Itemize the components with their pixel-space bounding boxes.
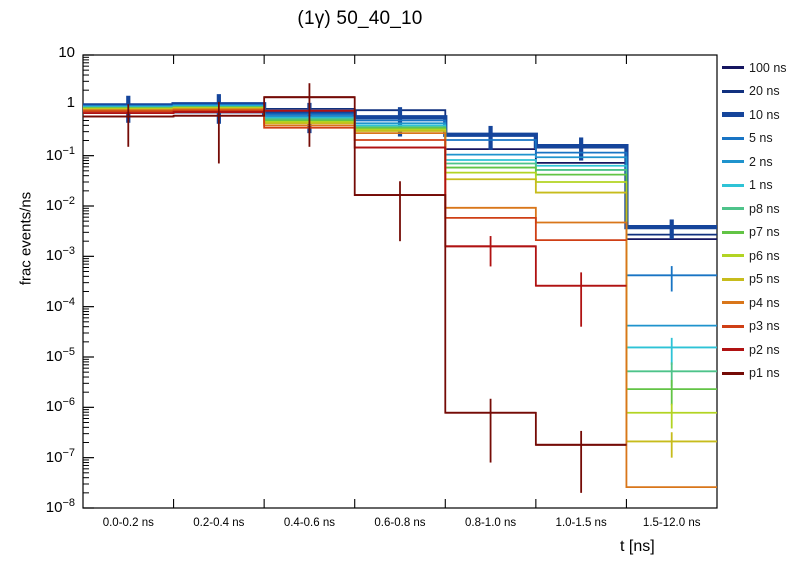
legend-label: p1 ns: [749, 366, 780, 380]
legend-swatch: [722, 160, 744, 163]
x-tick-label: 0.2-0.4 ns: [174, 517, 265, 529]
legend-item[interactable]: p7 ns: [722, 221, 796, 245]
series-p5-ns: [83, 109, 717, 458]
legend-item[interactable]: p2 ns: [722, 338, 796, 362]
legend-swatch: [722, 301, 744, 304]
legend-label: 100 ns: [749, 61, 787, 75]
legend-item[interactable]: p8 ns: [722, 197, 796, 221]
legend-item[interactable]: 100 ns: [722, 56, 796, 80]
legend-swatch: [722, 112, 744, 117]
legend-item[interactable]: p1 ns: [722, 362, 796, 386]
y-tick-label: 1: [0, 94, 75, 111]
legend-item[interactable]: p6 ns: [722, 244, 796, 268]
legend-swatch: [722, 278, 744, 281]
legend-label: 2 ns: [749, 155, 773, 169]
legend-swatch: [722, 325, 744, 328]
legend-swatch: [722, 254, 744, 257]
legend-item[interactable]: 20 ns: [722, 80, 796, 104]
series-step-line: [83, 109, 717, 442]
legend-item[interactable]: 10 ns: [722, 103, 796, 127]
legend-label: 1 ns: [749, 178, 773, 192]
series-p8-ns: [83, 107, 717, 387]
x-tick-label: 0.6-0.8 ns: [355, 517, 446, 529]
legend-item[interactable]: p3 ns: [722, 315, 796, 339]
legend-item[interactable]: p5 ns: [722, 268, 796, 292]
legend: 100 ns20 ns10 ns5 ns2 ns1 nsp8 nsp7 nsp6…: [722, 56, 796, 385]
legend-item[interactable]: 5 ns: [722, 127, 796, 151]
plot-canvas: { "title": "(1\u03b3) 50_40_10", "axes":…: [0, 0, 796, 572]
y-tick-label: 10−7: [0, 447, 75, 466]
x-tick-label: 0.0-0.2 ns: [83, 517, 174, 529]
x-tick-label: 0.4-0.6 ns: [264, 517, 355, 529]
legend-label: p7 ns: [749, 225, 780, 239]
legend-swatch: [722, 372, 744, 375]
legend-label: 5 ns: [749, 131, 773, 145]
legend-label: p4 ns: [749, 296, 780, 310]
legend-swatch: [722, 90, 744, 93]
legend-label: p5 ns: [749, 272, 780, 286]
legend-label: 10 ns: [749, 108, 780, 122]
legend-label: p3 ns: [749, 319, 780, 333]
x-tick-label: 0.8-1.0 ns: [445, 517, 536, 529]
legend-swatch: [722, 207, 744, 210]
legend-label: p2 ns: [749, 343, 780, 357]
series-step-line: [83, 97, 626, 445]
y-tick-label: 10−4: [0, 296, 75, 315]
series-p6-ns: [83, 108, 717, 429]
y-tick-label: 10−1: [0, 145, 75, 164]
legend-swatch: [722, 137, 744, 140]
y-tick-label: 10−6: [0, 396, 75, 415]
legend-label: p8 ns: [749, 202, 780, 216]
legend-swatch: [722, 231, 744, 234]
y-tick-label: 10: [0, 44, 75, 61]
series-step-line: [83, 107, 717, 389]
x-tick-label: 1.0-1.5 ns: [536, 517, 627, 529]
legend-item[interactable]: 1 ns: [722, 174, 796, 198]
legend-label: p6 ns: [749, 249, 780, 263]
chart-svg: [0, 0, 796, 572]
legend-swatch: [722, 66, 744, 69]
y-tick-label: 10−3: [0, 245, 75, 264]
legend-label: 20 ns: [749, 84, 780, 98]
y-tick-label: 10−8: [0, 497, 75, 516]
x-tick-label: 1.5-12.0 ns: [626, 517, 717, 529]
y-tick-label: 10−5: [0, 346, 75, 365]
y-tick-label: 10−2: [0, 195, 75, 214]
legend-item[interactable]: p4 ns: [722, 291, 796, 315]
legend-swatch: [722, 348, 744, 351]
series-step-line: [83, 108, 717, 413]
legend-swatch: [722, 184, 744, 187]
legend-item[interactable]: 2 ns: [722, 150, 796, 174]
